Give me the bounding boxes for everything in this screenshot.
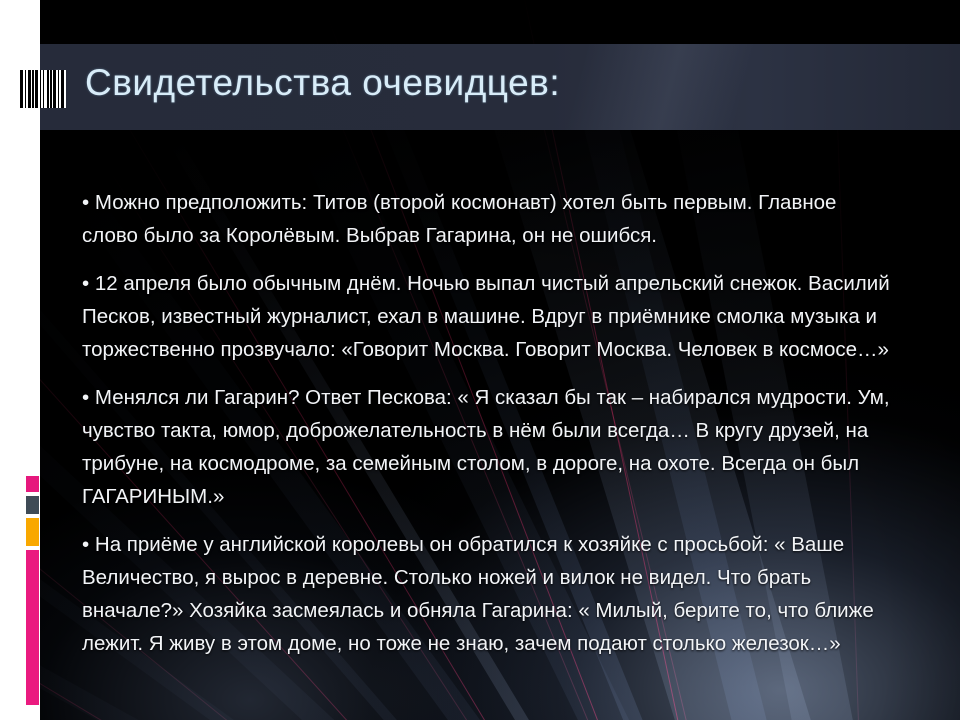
accent-block-pink-small	[26, 476, 39, 492]
bullet-text: Менялся ли Гагарин? Ответ Пескова: « Я с…	[82, 386, 890, 508]
bullet-glyph: •	[82, 272, 89, 295]
presentation-slide: Свидетельства очевидцев: • Можно предпол…	[0, 0, 960, 720]
accent-bar-pink	[26, 550, 39, 705]
accent-block-amber	[26, 518, 39, 546]
bullet-list: • Можно предположить: Титов (второй косм…	[82, 186, 897, 660]
bullet-text: На приёме у английской королевы он обрат…	[82, 533, 874, 655]
barcode-icon	[20, 70, 66, 108]
list-item: • Менялся ли Гагарин? Ответ Пескова: « Я…	[82, 381, 897, 513]
accent-block-slate	[26, 496, 39, 514]
bullet-glyph: •	[82, 386, 89, 409]
list-item: • 12 апреля было обычным днём. Ночью вып…	[82, 267, 897, 366]
bullet-glyph: •	[82, 533, 89, 556]
list-item: • Можно предположить: Титов (второй косм…	[82, 186, 897, 252]
bullet-glyph: •	[82, 191, 89, 214]
bullet-text: Можно предположить: Титов (второй космон…	[82, 191, 836, 247]
list-item: • На приёме у английской королевы он обр…	[82, 528, 897, 660]
page-title: Свидетельства очевидцев:	[85, 61, 560, 105]
bullet-text: 12 апреля было обычным днём. Ночью выпал…	[82, 272, 890, 361]
